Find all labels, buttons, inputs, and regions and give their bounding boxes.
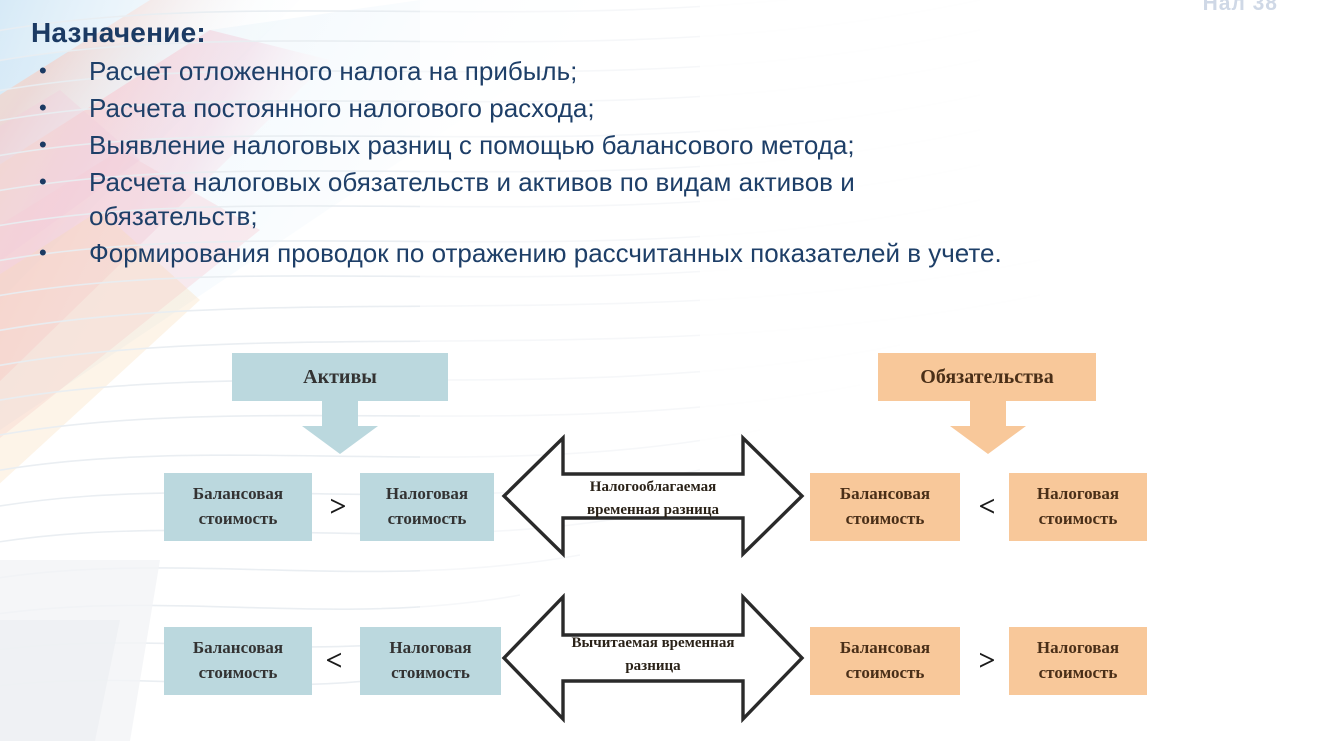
list-item: • Расчета постоянного налогового расхода… <box>31 91 1271 125</box>
page-title: Назначение: <box>31 17 206 49</box>
row2-left-operator: < <box>320 646 348 676</box>
row2-right-carrying-amount-box: Балансовая стоимость <box>810 627 960 695</box>
box-line-2: стоимость <box>1039 661 1118 686</box>
row1-right-tax-base-box: Налоговая стоимость <box>1009 473 1147 541</box>
assets-header-label: Активы <box>303 363 377 392</box>
list-item: • Формирования проводок по отражению рас… <box>31 236 1271 270</box>
row1-left-operator: > <box>324 492 352 522</box>
bullet-dot-icon: • <box>31 236 89 270</box>
bullet-dot-icon: • <box>31 54 89 88</box>
box-line-1: Налоговая <box>389 636 471 661</box>
box-line-2: стоимость <box>199 507 278 532</box>
liabilities-down-arrow-icon <box>948 398 1028 454</box>
liabilities-header-label: Обязательства <box>920 363 1053 392</box>
row2-right-operator: > <box>973 646 1001 676</box>
center-label-line-1: Налогооблагаемая <box>590 479 716 495</box>
list-item: • Выявление налоговых разниц с помощью б… <box>31 128 1271 162</box>
box-line-2: стоимость <box>391 661 470 686</box>
bullet-dot-icon: • <box>31 91 89 125</box>
box-line-2: стоимость <box>388 507 467 532</box>
liabilities-header-box: Обязательства <box>878 353 1096 401</box>
row1-left-tax-base-box: Налоговая стоимость <box>360 473 494 541</box>
center-label-line-1: Вычитаемая <box>572 635 658 651</box>
box-line-1: Балансовая <box>840 482 930 507</box>
list-item: • Расчет отложенного налога на прибыль; <box>31 54 1271 88</box>
bullet-dot-icon: • <box>31 128 89 162</box>
list-item-label: Выявление налоговых разниц с помощью бал… <box>89 128 1271 162</box>
bullet-list: • Расчет отложенного налога на прибыль; … <box>31 54 1271 273</box>
bullet-dot-icon: • <box>31 165 89 199</box>
box-line-1: Налоговая <box>386 482 468 507</box>
row1-right-carrying-amount-box: Балансовая стоимость <box>810 473 960 541</box>
box-line-1: Налоговая <box>1037 636 1119 661</box>
list-item-label: Формирования проводок по отражению рассч… <box>89 236 1271 270</box>
row1-right-operator: < <box>973 492 1001 522</box>
row2-left-tax-base-box: Налоговая стоимость <box>360 627 501 695</box>
assets-down-arrow-icon <box>300 398 380 454</box>
box-line-1: Балансовая <box>193 482 283 507</box>
box-line-2: стоимость <box>1039 507 1118 532</box>
row2-right-tax-base-box: Налоговая стоимость <box>1009 627 1147 695</box>
list-item-label: Расчета постоянного налогового расхода; <box>89 91 1271 125</box>
box-line-2: стоимость <box>199 661 278 686</box>
box-line-2: стоимость <box>846 507 925 532</box>
box-line-2: стоимость <box>846 661 925 686</box>
box-line-1: Балансовая <box>193 636 283 661</box>
assets-header-box: Активы <box>232 353 448 401</box>
row2-left-carrying-amount-box: Балансовая стоимость <box>164 627 312 695</box>
list-item: • Расчета налоговых обязательств и актив… <box>31 165 1271 233</box>
box-line-1: Балансовая <box>840 636 930 661</box>
row1-center-label: Налогооблагаемая временная разница <box>560 476 746 521</box>
box-line-1: Налоговая <box>1037 482 1119 507</box>
list-item-label: Расчета налоговых обязательств и активов… <box>89 165 1271 233</box>
page-number: Нал 38 <box>1203 0 1278 16</box>
center-label-line-2: временная разница <box>587 502 719 518</box>
list-item-label: Расчет отложенного налога на прибыль; <box>89 54 1271 88</box>
balance-method-diagram: Активы Обязательства Балансовая стоимост… <box>0 336 1320 741</box>
row2-center-label: Вычитаемая временная разница <box>560 632 746 677</box>
row1-left-carrying-amount-box: Балансовая стоимость <box>164 473 312 541</box>
